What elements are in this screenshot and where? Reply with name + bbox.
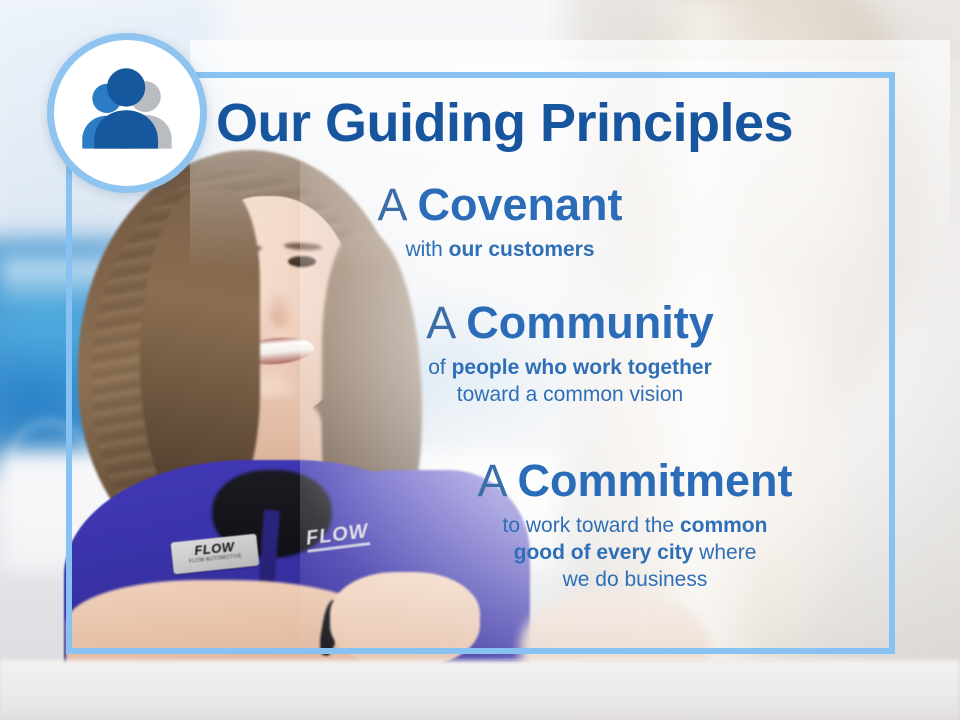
subtext-line: toward a common vision [345, 382, 795, 409]
subtext-line: good of every city where [400, 540, 870, 567]
principle-community-keyword: Community [466, 297, 714, 348]
subtext-run: of [428, 356, 451, 379]
principle-community: A Community of people who work togethert… [345, 300, 795, 409]
subtext-emphasis: common [680, 514, 768, 537]
desk-surface [0, 660, 960, 720]
principle-covenant-heading: A Covenant [300, 182, 700, 228]
associate-nose [268, 290, 294, 328]
subtext-line: we do business [400, 567, 870, 594]
principle-commitment-article: A [477, 455, 517, 506]
subtext-run: with [405, 238, 448, 261]
principle-covenant-keyword: Covenant [418, 179, 623, 230]
principle-commitment-keyword: Commitment [518, 455, 793, 506]
subtext-emphasis: good of every city [514, 541, 694, 564]
principle-commitment-heading: A Commitment [400, 458, 870, 504]
principle-covenant: A Covenant with our customers [300, 182, 700, 264]
principles-badge [47, 33, 207, 193]
promo-graphic: FLOW FLOW AUTOMOTIVE FLOW Our [0, 0, 960, 720]
subtext-run: where [693, 541, 756, 564]
subtext-run: toward a common vision [457, 383, 683, 406]
principle-covenant-article: A [377, 179, 417, 230]
people-group-icon [54, 40, 200, 186]
subtext-emphasis: our customers [449, 238, 595, 261]
principle-community-heading: A Community [345, 300, 795, 346]
subtext-emphasis: people who work together [452, 356, 712, 379]
subtext-line: with our customers [300, 237, 700, 264]
subtext-run: we do business [563, 568, 708, 591]
principle-covenant-subtext: with our customers [300, 237, 700, 264]
page-title: Our Guiding Principles [216, 96, 876, 150]
subtext-line: to work toward the common [400, 513, 870, 540]
subtext-line: of people who work together [345, 355, 795, 382]
subtext-run: to work toward the [503, 514, 680, 537]
principle-community-article: A [426, 297, 466, 348]
principle-commitment: A Commitment to work toward the commongo… [400, 458, 870, 594]
principle-commitment-subtext: to work toward the commongood of every c… [400, 513, 870, 594]
principle-community-subtext: of people who work togethertoward a comm… [345, 355, 795, 409]
